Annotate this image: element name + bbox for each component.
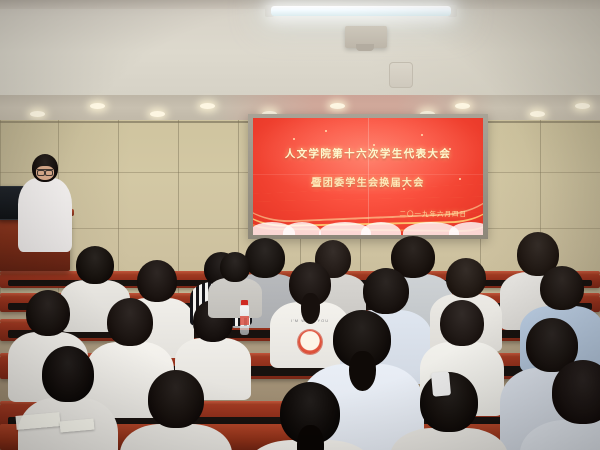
audience-member <box>520 360 600 450</box>
downlight-icon <box>455 103 470 109</box>
person-head <box>440 300 484 346</box>
person-head <box>446 258 486 298</box>
downlight-icon <box>330 103 345 109</box>
water-bottle-label <box>240 316 249 325</box>
person-head <box>148 370 204 428</box>
air-vent-icon <box>389 62 413 88</box>
projection-screen-frame: 人文学院第十六次学生代表大会 暨团委学生会换届大会 二〇一九年六月四日 <box>248 114 488 239</box>
person-head <box>552 360 600 424</box>
audience-member <box>208 252 262 322</box>
person-head <box>26 290 70 336</box>
fluorescent-tube-light-icon <box>271 6 451 16</box>
person-head <box>540 266 584 310</box>
downlight-icon <box>200 103 215 109</box>
slide-sparkle <box>311 182 313 184</box>
person-head <box>76 246 114 284</box>
person-head <box>137 260 177 302</box>
person-head <box>220 252 250 282</box>
person-torso <box>208 278 262 318</box>
slide-sparkle <box>449 148 451 150</box>
person-torso <box>18 178 72 252</box>
downlight-icon <box>530 111 545 117</box>
audience-member <box>18 346 118 450</box>
slide-sparkle <box>403 188 405 190</box>
person-torso <box>520 420 600 450</box>
slide-sparkle <box>325 130 327 132</box>
downlight-icon <box>575 103 590 109</box>
downlight-icon <box>150 111 165 117</box>
downlight-icon <box>90 103 105 109</box>
slide-sparkle <box>459 178 461 180</box>
mobile-phone-icon <box>431 371 451 396</box>
slide-sparkle <box>293 138 295 140</box>
slide-sparkle <box>421 134 423 136</box>
slide-sparkle <box>373 144 375 146</box>
projection-screen: 人文学院第十六次学生代表大会 暨团委学生会换届大会 二〇一九年六月四日 <box>253 118 483 235</box>
audience-member <box>120 370 232 450</box>
glasses-icon <box>37 169 53 173</box>
person-head <box>107 298 153 346</box>
person-head <box>363 268 409 314</box>
person-head <box>42 346 94 402</box>
downlight-icon <box>30 111 45 117</box>
projector-lens-icon <box>356 44 374 51</box>
audience-member <box>248 382 372 450</box>
presenter-figure <box>18 154 72 256</box>
lecture-hall-photo: 人文学院第十六次学生代表大会 暨团委学生会换届大会 二〇一九年六月四日 I'M … <box>0 0 600 450</box>
